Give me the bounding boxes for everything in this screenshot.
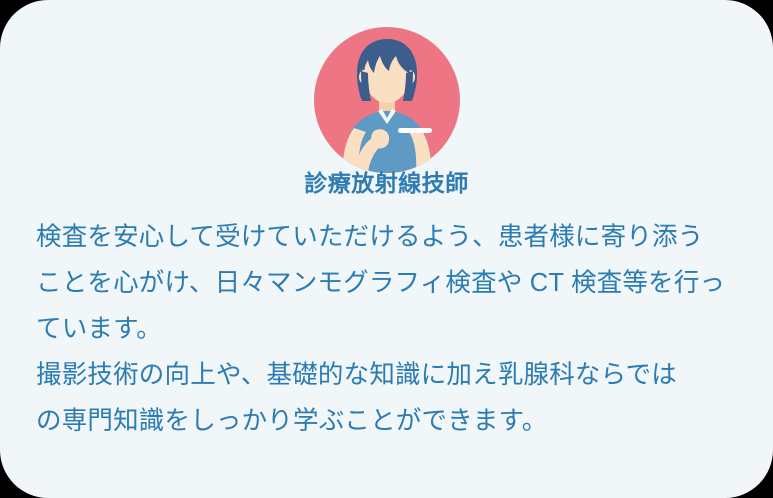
description-line: 検査を安心して受けていただけるよう、患者様に寄り添う: [36, 214, 742, 260]
page-title: 診療放射線技師: [0, 168, 773, 198]
description-text: 検査を安心して受けていただけるよう、患者様に寄り添う ことを心がけ、日々マンモグ…: [36, 214, 742, 444]
profile-card: 診療放射線技師 検査を安心して受けていただけるよう、患者様に寄り添う ことを心が…: [0, 0, 773, 498]
avatar: [314, 27, 460, 173]
description-line: ています。: [36, 306, 742, 352]
description-line: ことを心がけ、日々マンモグラフィ検査や CT 検査等を行っ: [36, 260, 742, 306]
radiologic-technologist-avatar-icon: [314, 27, 460, 173]
description-line: の専門知識をしっかり学ぶことができます。: [36, 398, 742, 444]
description-line: 撮影技術の向上や、基礎的な知識に加え乳腺科ならでは: [36, 352, 742, 398]
